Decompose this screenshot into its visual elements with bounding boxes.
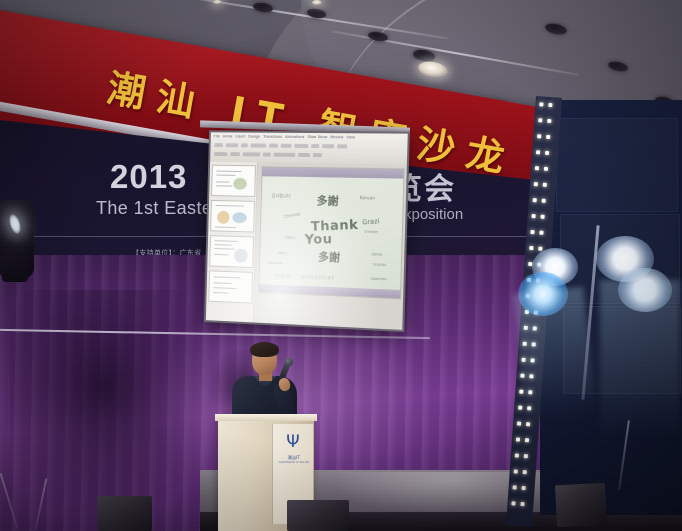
powerpoint-ribbon: File Home Insert Design Transitions Anim… — [210, 132, 408, 165]
word-cloud-item: Japanese — [371, 277, 387, 282]
light-beam — [513, 287, 596, 424]
word-cloud-item: 감사합니다 — [271, 193, 290, 199]
backdrop-subtitle-en: xposition — [404, 206, 463, 223]
ribbon-tab[interactable]: Slide Show — [307, 135, 327, 139]
monitor-speaker — [97, 496, 152, 531]
slide-thumbnail-panel[interactable] — [206, 162, 258, 323]
slide-thumbnail[interactable] — [208, 270, 253, 303]
podium-logo-icon: Ψ — [286, 432, 300, 452]
word-cloud-item: Chinese — [283, 212, 300, 220]
slide-main-text-2: You — [305, 232, 333, 248]
ribbon-tab[interactable]: View — [346, 135, 355, 139]
podium-top-surface — [215, 414, 317, 421]
ribbon-tab[interactable]: Design — [248, 135, 260, 139]
light-beam — [600, 280, 680, 440]
conference-stage-photo: 潮汕 IT 智库沙龙 2013 览会 The 1st Eastern xposi… — [0, 0, 682, 531]
word-cloud-item: Danke — [371, 252, 382, 256]
projection-screen: File Home Insert Design Transitions Anim… — [204, 130, 410, 332]
backdrop-year: 2013 — [110, 158, 187, 196]
ribbon-tab-row[interactable]: File Home Insert Design Transitions Anim… — [214, 134, 355, 139]
ribbon-tab[interactable]: File — [214, 134, 220, 138]
podium-logo-subtext: CHAOSHAN IT SALON — [277, 461, 311, 464]
ribbon-tab[interactable]: Review — [330, 135, 343, 139]
word-cloud-item: Obrigado — [268, 261, 283, 266]
slide-thumbnail[interactable] — [209, 235, 254, 268]
ribbon-tab[interactable]: Home — [223, 134, 233, 138]
microphone-head-icon — [285, 358, 293, 366]
slide-title-bar — [262, 167, 403, 178]
slide-thumbnail[interactable] — [210, 200, 255, 233]
word-cloud-item: Merci — [278, 251, 287, 255]
word-cloud-item: Chinese — [364, 230, 378, 234]
wall-panel — [556, 118, 678, 212]
word-cloud-item: Korean — [360, 196, 375, 201]
slide-thumbnail[interactable] — [211, 165, 256, 197]
word-cloud-item: Gracias — [373, 262, 386, 267]
word-cloud-zh-bottom: 多謝 — [318, 248, 340, 265]
word-cloud-item: ありがとうございます — [301, 274, 335, 280]
current-slide[interactable]: 감사합니다 多謝 Korean Chinese Thank Grazi Chin… — [258, 166, 404, 299]
projection-screen-surface: File Home Insert Design Transitions Anim… — [206, 132, 408, 330]
ribbon-controls[interactable] — [214, 143, 347, 148]
monitor-speaker — [287, 500, 349, 531]
ribbon-controls-row2[interactable] — [214, 152, 322, 157]
light-fixture-arm — [2, 248, 28, 282]
ceiling-downlight-icon — [252, 1, 273, 13]
slide-status-bar — [259, 284, 400, 298]
word-cloud-item: 감사합니다 — [275, 273, 290, 279]
word-cloud-zh-top: 多謝 — [316, 192, 338, 209]
word-cloud-item: Grazi — [362, 217, 380, 226]
speaker-hair — [250, 342, 279, 357]
ceiling-downlight-icon — [312, 0, 322, 5]
ribbon-tab[interactable]: Insert — [235, 134, 245, 138]
ribbon-tab[interactable]: Transitions — [263, 135, 282, 139]
monitor-speaker — [555, 483, 607, 528]
slide-editing-area[interactable]: 감사합니다 多謝 Korean Chinese Thank Grazi Chin… — [254, 162, 407, 330]
ceiling-downlight-icon — [213, 0, 222, 4]
word-cloud-item: Italian — [285, 235, 295, 239]
ribbon-tab[interactable]: Animations — [285, 135, 305, 139]
